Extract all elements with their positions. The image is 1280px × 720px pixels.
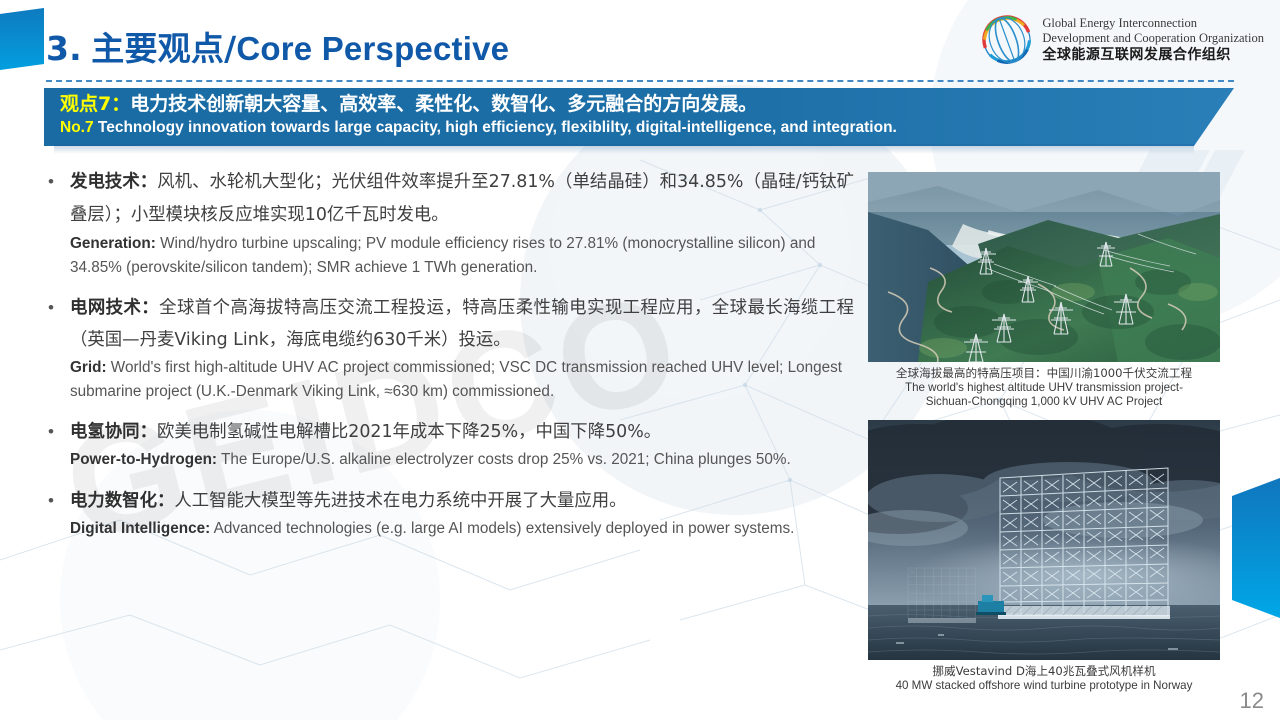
slide-canvas: GEIDCO 3. 主要观点/Core Perspective Global — [0, 0, 1280, 720]
bullet-cn-text: 欧美电制氢碱性电解槽比2021年成本下降25%，中国下降50%。 — [157, 422, 661, 442]
bullet-cn-title: 电氢协同： — [70, 422, 157, 442]
globe-icon — [981, 14, 1033, 66]
list-item: • 发电技术：风机、水轮机大型化；光伏组件效率提升至27.81%（单结晶硅）和3… — [44, 166, 854, 279]
bullet-en-paragraph: Digital Intelligence: Advanced technolog… — [70, 517, 854, 541]
figure-caption-en-1: The world's highest altitude UHV transmi… — [868, 381, 1220, 396]
banner-label-en: No.7 — [60, 119, 94, 136]
figure-offshore-wind: 挪威Vestavind D海上40兆瓦叠式风机样机 40 MW stacked … — [868, 420, 1220, 693]
bullet-marker: • — [44, 416, 70, 472]
list-item: • 电力数智化：人工智能大模型等先进技术在电力系统中开展了大量应用。 Digit… — [44, 485, 854, 541]
banner-line-cn: 观点7：电力技术创新朝大容量、高效率、柔性化、数智化、多元融合的方向发展。 — [60, 92, 1190, 117]
figure-caption-en-1: 40 MW stacked offshore wind turbine prot… — [868, 679, 1220, 694]
bullet-cn-text: 人工智能大模型等先进技术在电力系统中开展了大量应用。 — [174, 491, 626, 511]
page-title-en: Core Perspective — [236, 30, 509, 67]
bullet-en-text: Advanced technologies (e.g. large AI mod… — [214, 520, 795, 537]
bullet-cn-text: 全球首个高海拔特高压交流工程投运，特高压柔性输电实现工程应用，全球最长海缆工程（… — [70, 298, 854, 350]
page-title: 3. 主要观点/Core Perspective — [46, 22, 509, 70]
bullet-cn-paragraph: 电力数智化：人工智能大模型等先进技术在电力系统中开展了大量应用。 — [70, 485, 854, 517]
bullet-cn-paragraph: 电氢协同：欧美电制氢碱性电解槽比2021年成本下降25%，中国下降50%。 — [70, 416, 854, 448]
figure-caption: 挪威Vestavind D海上40兆瓦叠式风机样机 40 MW stacked … — [868, 664, 1220, 693]
bullet-cn-title: 电网技术： — [70, 298, 159, 318]
figure-caption: 全球海拔最高的特高压项目：中国川渝1000千伏交流工程 The world's … — [868, 366, 1220, 410]
figure-uhv-transmission: 全球海拔最高的特高压项目：中国川渝1000千伏交流工程 The world's … — [868, 172, 1220, 410]
uhv-transmission-photo — [868, 172, 1220, 362]
logo-cn-line: 全球能源互联网发展合作组织 — [1042, 47, 1264, 64]
figure-caption-cn: 挪威Vestavind D海上40兆瓦叠式风机样机 — [868, 664, 1220, 679]
list-item: • 电网技术：全球首个高海拔特高压交流工程投运，特高压柔性输电实现工程应用，全球… — [44, 292, 854, 403]
banner-text-en: Technology innovation towards large capa… — [98, 119, 897, 136]
top-left-accent-shape — [0, 8, 52, 70]
bullet-marker: • — [44, 292, 70, 403]
bullet-list: • 发电技术：风机、水轮机大型化；光伏组件效率提升至27.81%（单结晶硅）和3… — [44, 166, 854, 553]
bullet-en-title: Generation: — [70, 235, 156, 252]
bullet-cn-text: 风机、水轮机大型化；光伏组件效率提升至27.81%（单结晶硅）和34.85%（晶… — [70, 172, 854, 225]
logo-en-line2: Development and Cooperation Organization — [1042, 31, 1264, 46]
page-title-cn: 主要观点 — [91, 29, 224, 68]
banner-text-cn: 电力技术创新朝大容量、高效率、柔性化、数智化、多元融合的方向发展。 — [130, 93, 757, 115]
bullet-marker: • — [44, 485, 70, 541]
figure-caption-en-2: Sichuan-Chongqing 1,000 kV UHV AC Projec… — [868, 395, 1220, 410]
viewpoint-banner: 观点7：电力技术创新朝大容量、高效率、柔性化、数智化、多元融合的方向发展。 No… — [44, 88, 1234, 146]
bullet-cn-paragraph: 发电技术：风机、水轮机大型化；光伏组件效率提升至27.81%（单结晶硅）和34.… — [70, 166, 854, 232]
offshore-wind-photo — [868, 420, 1220, 660]
header-divider — [46, 80, 1234, 82]
list-item: • 电氢协同：欧美电制氢碱性电解槽比2021年成本下降25%，中国下降50%。 … — [44, 416, 854, 472]
logo-en-line1: Global Energy Interconnection — [1042, 16, 1264, 31]
bullet-en-text: The Europe/U.S. alkaline electrolyzer co… — [221, 451, 791, 468]
right-edge-accent-shape — [1232, 478, 1280, 618]
bullet-en-title: Digital Intelligence: — [70, 520, 210, 537]
bullet-en-text: World's first high-altitude UHV AC proje… — [70, 359, 842, 400]
bullet-marker: • — [44, 166, 70, 279]
bullet-en-paragraph: Generation: Wind/hydro turbine upscaling… — [70, 232, 854, 279]
bullet-cn-title: 发电技术： — [70, 172, 157, 192]
banner-line-en: No.7 Technology innovation towards large… — [60, 117, 1190, 139]
banner-drop-shadow — [54, 144, 1194, 154]
organization-logo: Global Energy Interconnection Developmen… — [981, 14, 1264, 66]
page-title-number: 3. — [46, 29, 82, 68]
banner-label-cn: 观点7： — [60, 93, 130, 115]
page-number: 12 — [1240, 688, 1264, 714]
bullet-cn-paragraph: 电网技术：全球首个高海拔特高压交流工程投运，特高压柔性输电实现工程应用，全球最长… — [70, 292, 854, 356]
page-title-separator: / — [224, 29, 236, 68]
figure-caption-cn: 全球海拔最高的特高压项目：中国川渝1000千伏交流工程 — [868, 366, 1220, 381]
bullet-en-paragraph: Power-to-Hydrogen: The Europe/U.S. alkal… — [70, 448, 854, 472]
bullet-en-paragraph: Grid: World's first high-altitude UHV AC… — [70, 356, 854, 403]
bullet-en-title: Power-to-Hydrogen: — [70, 451, 217, 468]
bullet-en-text: Wind/hydro turbine upscaling; PV module … — [70, 235, 815, 276]
bullet-cn-title: 电力数智化： — [70, 491, 174, 511]
bullet-en-title: Grid: — [70, 359, 107, 376]
